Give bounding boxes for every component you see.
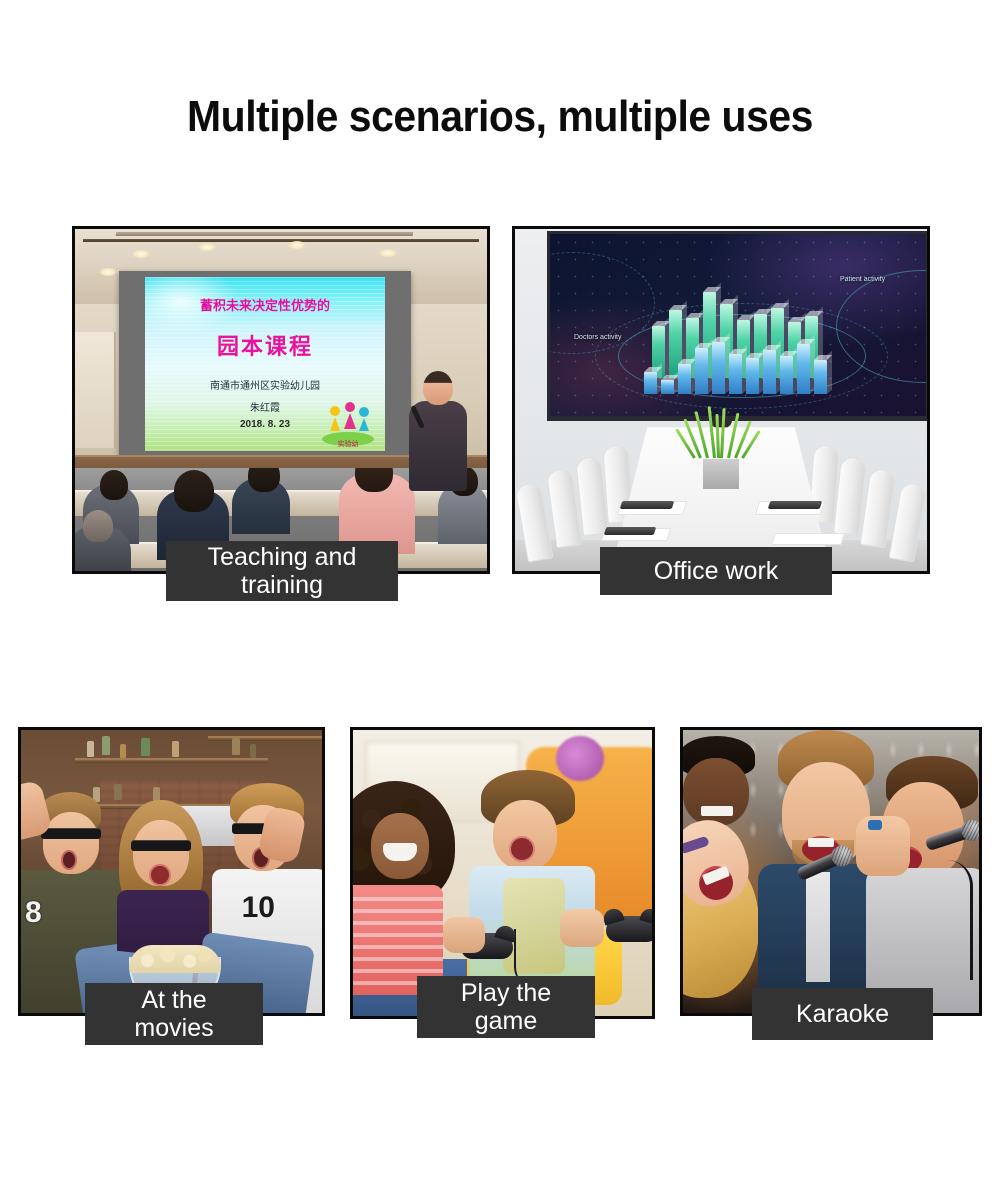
bar-doctor-3 [678, 364, 691, 394]
movie-night-scene: 8 [21, 730, 322, 1013]
classroom-scene: 蓄积未来决定性优势的 园本课程 南通市通州区实验幼儿园 朱红霞 2018. 8.… [75, 229, 487, 571]
bar-doctor-10 [797, 344, 810, 394]
scenario-card-office-work[interactable]: Patient activity Doctors activity [512, 226, 930, 574]
wall-display: Patient activity Doctors activity [547, 231, 927, 421]
label-line-1: Play the [461, 979, 551, 1007]
audience-person-head [100, 470, 128, 500]
ceiling-light [133, 250, 149, 258]
ceiling-beam-dark [83, 239, 479, 242]
gaming-scene [353, 730, 652, 1016]
scenario-card-teaching-and-training[interactable]: 蓄积未来决定性优势的 园本课程 南通市通州区实验幼儿园 朱红霞 2018. 8.… [72, 226, 490, 574]
audience-person-head [174, 470, 214, 512]
paper-document [771, 533, 845, 545]
school-logo-icon: 实验幼 [319, 399, 377, 447]
scenario-card-at-the-movies[interactable]: 8 [18, 727, 325, 1016]
movies-photo: 8 [18, 727, 325, 1016]
presenter-figure [407, 371, 469, 489]
shelf-jar [232, 738, 240, 755]
3d-glasses-left [41, 828, 101, 839]
audience-person-head [83, 510, 113, 542]
shelf-jar [141, 738, 150, 756]
ceiling-beam [116, 232, 413, 236]
bar-doctor-1 [644, 372, 657, 394]
presentation-slide: 蓄积未来决定性优势的 园本课程 南通市通州区实验幼儿园 朱红霞 2018. 8.… [145, 277, 385, 451]
label-line-2: game [475, 1007, 538, 1035]
card-label-office-work: Office work [600, 547, 832, 595]
tablet-device [620, 501, 675, 509]
bar-chart-3d [646, 260, 846, 378]
page-title: Multiple scenarios, multiple uses [35, 92, 965, 142]
karaoke-photo [680, 727, 982, 1016]
boy-mouth [509, 836, 535, 862]
3d-glasses-center [131, 840, 191, 851]
scenario-card-play-the-game[interactable]: Play the game [350, 727, 655, 1019]
display-screen: Patient activity Doctors activity [550, 234, 926, 416]
label-line-1: Karaoke [796, 1000, 889, 1028]
jersey-number-left: 8 [25, 896, 42, 930]
label-line-1: Teaching and [208, 543, 357, 571]
person-center-mouth [149, 864, 171, 886]
teaching-photo: 蓄积未来决定性优势的 园本课程 南通市通州区实验幼儿园 朱红霞 2018. 8.… [72, 226, 490, 574]
bar-doctor-6 [729, 354, 742, 394]
ceiling-light [100, 268, 116, 276]
label-line-2: movies [134, 1014, 213, 1042]
center-teeth [808, 838, 834, 847]
ceiling-light [289, 241, 305, 249]
slide-subtitle-line: 蓄积未来决定性优势的 [145, 295, 385, 314]
shelf-jar [172, 741, 179, 757]
kitchen-shelf [208, 736, 322, 741]
bar-doctor-7 [746, 358, 759, 394]
slide-main-title: 园本课程 [145, 329, 385, 361]
plant-pot [703, 459, 739, 489]
microphone-cable [947, 860, 973, 980]
card-label-play-the-game: Play the game [417, 976, 595, 1038]
chart-legend-patient-activity: Patient activity [840, 276, 885, 283]
tablet-device [768, 501, 823, 509]
scenario-card-karaoke[interactable]: Karaoke [680, 727, 982, 1016]
bar-doctor-2 [661, 380, 674, 394]
label-line-1: Office work [654, 557, 779, 585]
office-photo: Patient activity Doctors activity [512, 226, 930, 574]
girl-hands [443, 917, 485, 953]
right-hand [856, 816, 910, 876]
shelf-jar [250, 744, 256, 758]
scenario-showcase-page: Multiple scenarios, multiple uses [0, 0, 1000, 1193]
shelf-jar [87, 741, 94, 757]
label-line-2: training [241, 571, 323, 599]
ceiling-light [380, 249, 396, 257]
karaoke-scene [683, 730, 979, 1013]
boy-hands [560, 909, 604, 947]
label-line-1: At the [141, 986, 206, 1014]
card-label-karaoke: Karaoke [752, 988, 933, 1040]
bar-doctor-9 [780, 356, 793, 394]
kitchen-shelf [75, 758, 268, 763]
card-label-teaching-and-training: Teaching and training [166, 541, 398, 601]
bar-doctor-11 [814, 360, 827, 394]
person-right: 10 [208, 787, 322, 1013]
shelf-jar [102, 736, 110, 755]
bar-doctor-5 [712, 342, 725, 394]
ceiling-light [199, 243, 215, 251]
tablet-device [604, 527, 657, 535]
girl-smile [383, 843, 417, 861]
svg-text:实验幼: 实验幼 [338, 439, 359, 447]
bar-doctor-8 [763, 350, 776, 394]
orbit-ring-right [836, 270, 927, 383]
game-controller-right[interactable] [606, 916, 652, 942]
ring [868, 820, 882, 830]
projection-screen: 蓄积未来决定性优势的 园本课程 南通市通州区实验幼儿园 朱红霞 2018. 8.… [119, 271, 411, 457]
presenter-head [423, 371, 453, 405]
center-undershirt [806, 872, 830, 982]
conference-room-scene: Patient activity Doctors activity [515, 229, 927, 571]
chart-legend-doctors-activity: Doctors activity [574, 334, 621, 341]
popcorn [129, 945, 221, 973]
girl-shirt-stripes [353, 897, 443, 987]
shelf-jar [120, 744, 126, 758]
person-girl [353, 781, 485, 1004]
bar-doctor-4 [695, 348, 708, 394]
card-label-at-the-movies: At the movies [85, 983, 263, 1045]
wall-panel [75, 332, 116, 448]
jersey-number-right: 10 [242, 891, 275, 925]
plant-leaves [689, 406, 753, 458]
slide-organization: 南通市通州区实验幼儿园 [145, 377, 385, 392]
